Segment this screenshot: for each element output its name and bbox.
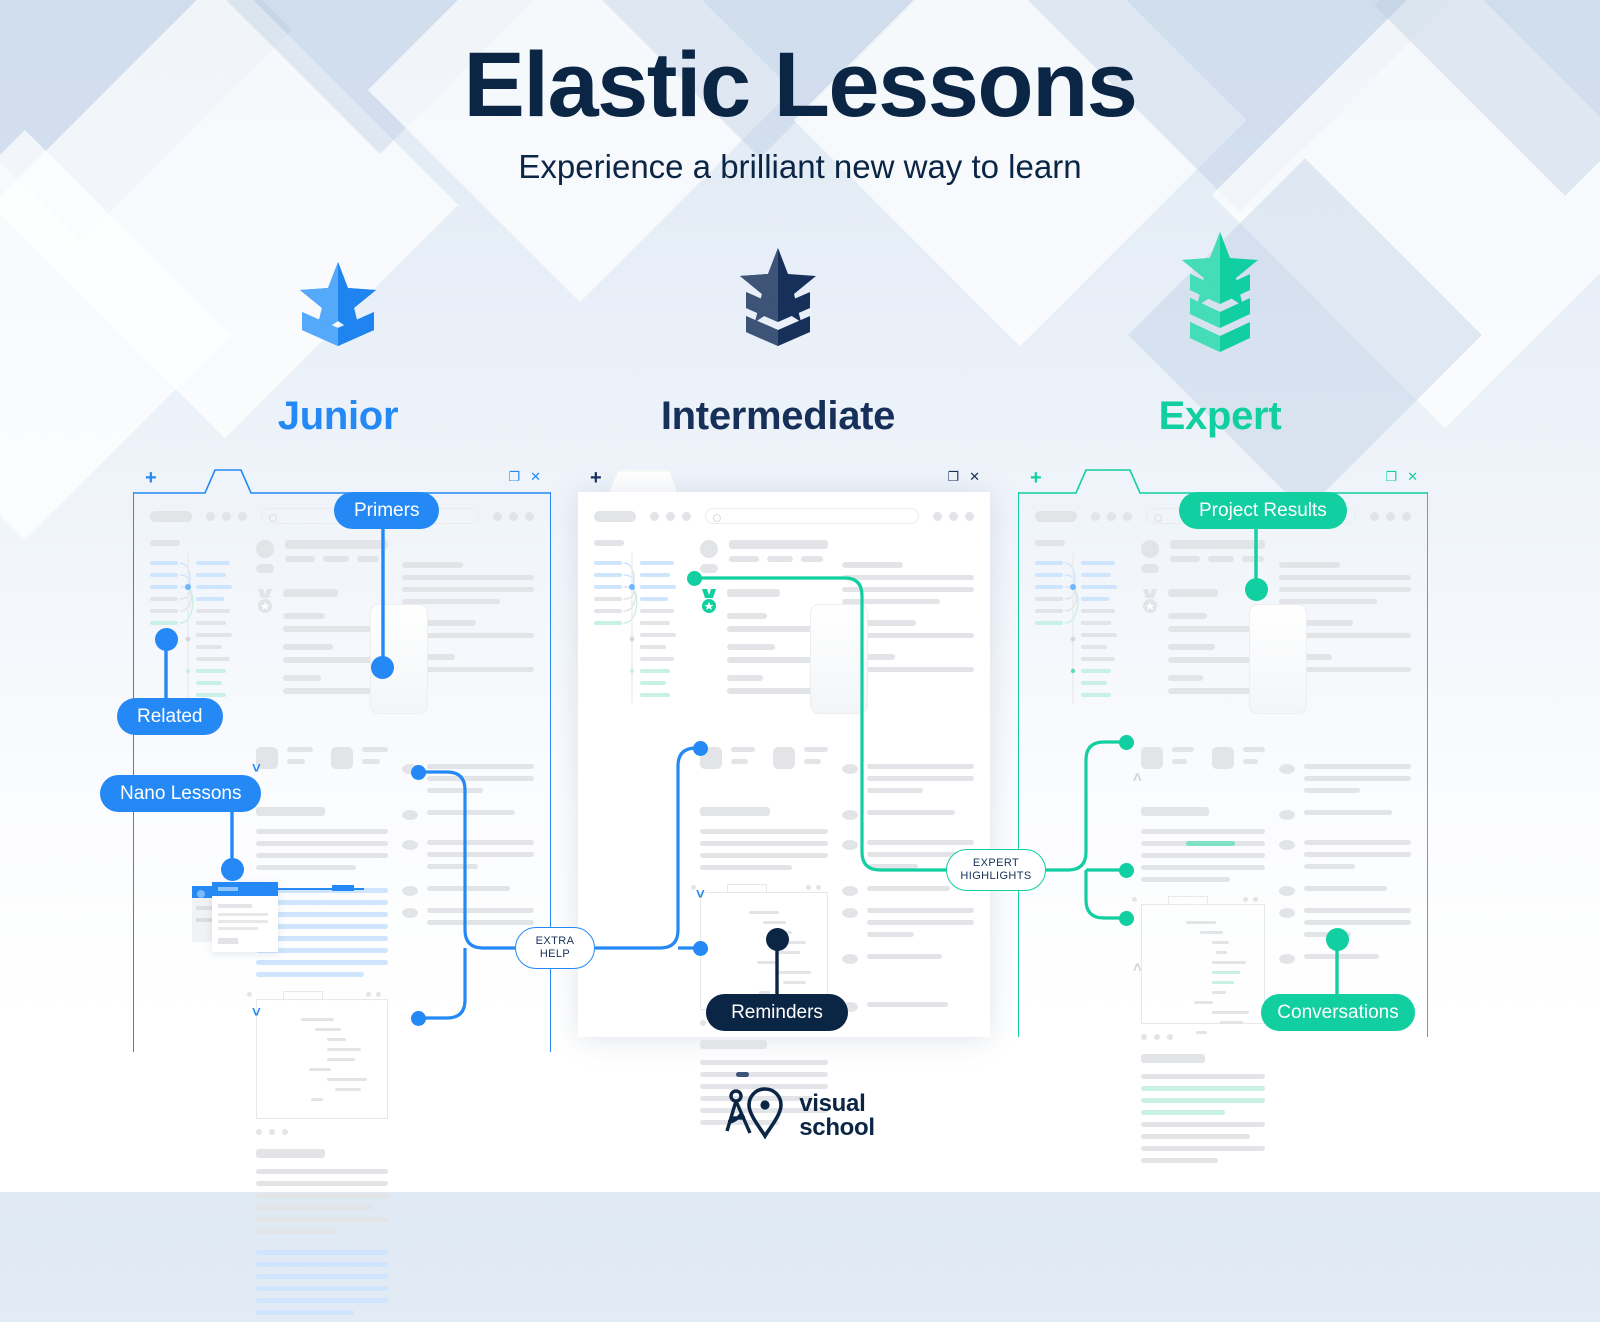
sidebar-tree: [594, 540, 686, 1132]
window-tab-shape: [578, 468, 990, 494]
brand-name-line2: school: [799, 1116, 875, 1140]
tree-branch-icon: [594, 553, 686, 703]
connector-knob-junior-b: [411, 1011, 426, 1026]
sidebar-tree: [1035, 540, 1127, 1170]
label-extra-help[interactable]: EXTRA HELP: [515, 927, 595, 969]
connector-knob-nano: [221, 858, 244, 881]
collapse-chevron-icon-2[interactable]: ˅: [1133, 958, 1142, 975]
connector-knob-expert-a: [1119, 735, 1134, 750]
tree-branch-icon: [1035, 553, 1127, 703]
connector-knob-junior-a: [411, 765, 426, 780]
label-text-line2: HIGHLIGHTS: [960, 870, 1031, 883]
label-nano-lessons[interactable]: Nano Lessons: [100, 775, 261, 812]
connector-knob-expert-b: [1119, 863, 1134, 878]
window-tab-shape: [133, 466, 551, 494]
expert-window[interactable]: + ❐ ✕: [1018, 492, 1428, 1037]
page-title: Elastic Lessons: [0, 38, 1600, 134]
collapse-chevron-icon[interactable]: ˅: [1133, 768, 1142, 785]
medal-icon: [256, 589, 272, 611]
collapse-chevron-icon-2[interactable]: ˅: [252, 1004, 261, 1021]
tier-intermediate: Intermediate: [628, 246, 928, 439]
chrome-menu-dots: [933, 512, 974, 521]
compass-map-pin-icon: [725, 1087, 787, 1144]
label-project-results[interactable]: Project Results: [1179, 492, 1347, 529]
label-text: Related: [137, 706, 203, 728]
label-related[interactable]: Related: [117, 698, 223, 735]
embedded-doc-card: [700, 892, 828, 1010]
wireframe-stage: + ❐ ✕: [0, 470, 1600, 1090]
device-mockup: [810, 604, 868, 714]
junior-badge-icon: [188, 246, 488, 356]
connector-knob-primers: [371, 656, 394, 679]
label-conversations[interactable]: Conversations: [1261, 994, 1415, 1031]
label-primers[interactable]: Primers: [334, 492, 439, 529]
medal-icon: [700, 589, 716, 611]
page-header: Elastic Lessons Experience a brilliant n…: [0, 0, 1600, 186]
tier-label-expert: Expert: [1070, 394, 1370, 439]
medal-icon: [1141, 589, 1157, 611]
label-text-line2: HELP: [540, 948, 570, 961]
device-mockup: [1249, 604, 1307, 714]
junior-window[interactable]: + ❐ ✕: [133, 492, 551, 1052]
connector-knob-mid-a: [693, 741, 708, 756]
tier-row: Junior Intermediate: [0, 246, 1600, 466]
label-text: Conversations: [1277, 1002, 1398, 1024]
connector-knob-results: [1245, 578, 1268, 601]
label-text: Primers: [354, 500, 419, 522]
page-subtitle: Experience a brilliant new way to learn: [0, 148, 1600, 186]
embedded-doc-card: [1141, 904, 1265, 1024]
chrome-logo-bar: [594, 511, 636, 522]
label-reminders[interactable]: Reminders: [706, 994, 848, 1031]
main-content-blocks: [700, 540, 828, 1132]
connector-knob-conversations: [1326, 928, 1349, 951]
label-text: Nano Lessons: [120, 783, 241, 805]
label-text: Project Results: [1199, 500, 1327, 522]
connector-knob-mid-b: [693, 941, 708, 956]
connector-knob-related: [155, 628, 178, 651]
tier-expert: Expert: [1070, 246, 1370, 439]
label-text-line1: EXPERT: [973, 857, 1019, 870]
chrome-nav-dots: [650, 512, 691, 521]
connector-knob-mid-teal: [687, 571, 702, 586]
footer-logo: visual school: [0, 1087, 1600, 1144]
connector-knob-expert-c: [1119, 911, 1134, 926]
highlighted-lesson-block-2: [256, 1250, 388, 1315]
brand-name-line1: visual: [799, 1092, 875, 1116]
connector-knob-reminders: [766, 928, 789, 951]
intermediate-badge-icon: [628, 246, 928, 356]
tier-label-junior: Junior: [188, 394, 488, 439]
expert-badge-icon: [1070, 246, 1370, 356]
window-tab-shape: [1018, 466, 1428, 494]
tier-junior: Junior: [188, 246, 488, 439]
label-text-line1: EXTRA: [536, 935, 575, 948]
label-expert-highlights[interactable]: EXPERT HIGHLIGHTS: [946, 849, 1046, 891]
search-input[interactable]: [705, 508, 919, 524]
tier-label-intermediate: Intermediate: [628, 394, 928, 439]
browser-chrome: [578, 492, 990, 524]
nano-lesson-card-stack[interactable]: [192, 882, 278, 952]
label-text: Reminders: [731, 1002, 823, 1024]
collapse-chevron-icon[interactable]: ˅: [252, 760, 261, 777]
collapse-chevron-icon[interactable]: ˅: [696, 886, 705, 903]
intermediate-window[interactable]: + ❐ ✕: [578, 492, 990, 1037]
